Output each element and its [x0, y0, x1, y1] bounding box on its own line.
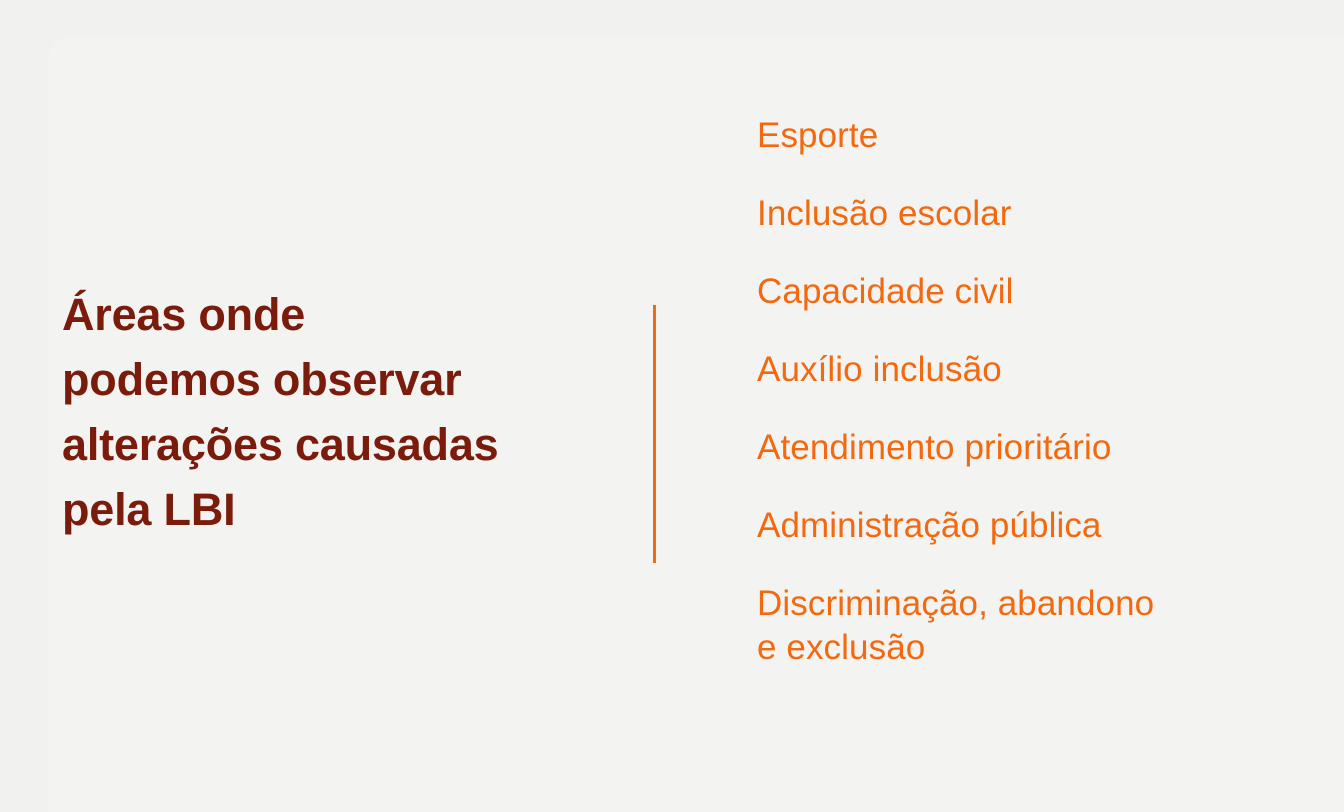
heading-block: Áreas onde podemos observar alterações c…	[62, 282, 622, 542]
list-item: Auxílio inclusão	[757, 348, 1317, 392]
list-item: Discriminação, abandono e exclusão	[757, 582, 1317, 670]
topic-list: Esporte Inclusão escolar Capacidade civi…	[757, 114, 1317, 670]
list-item: Inclusão escolar	[757, 192, 1317, 236]
vertical-divider	[653, 305, 656, 563]
slide-content: Áreas onde podemos observar alterações c…	[0, 0, 1344, 812]
page-title: Áreas onde podemos observar alterações c…	[62, 282, 622, 542]
slide-canvas: Áreas onde podemos observar alterações c…	[0, 0, 1344, 812]
list-item: Atendimento prioritário	[757, 426, 1317, 470]
list-item: Administração pública	[757, 504, 1317, 548]
list-item: Capacidade civil	[757, 270, 1317, 314]
list-item: Esporte	[757, 114, 1317, 158]
